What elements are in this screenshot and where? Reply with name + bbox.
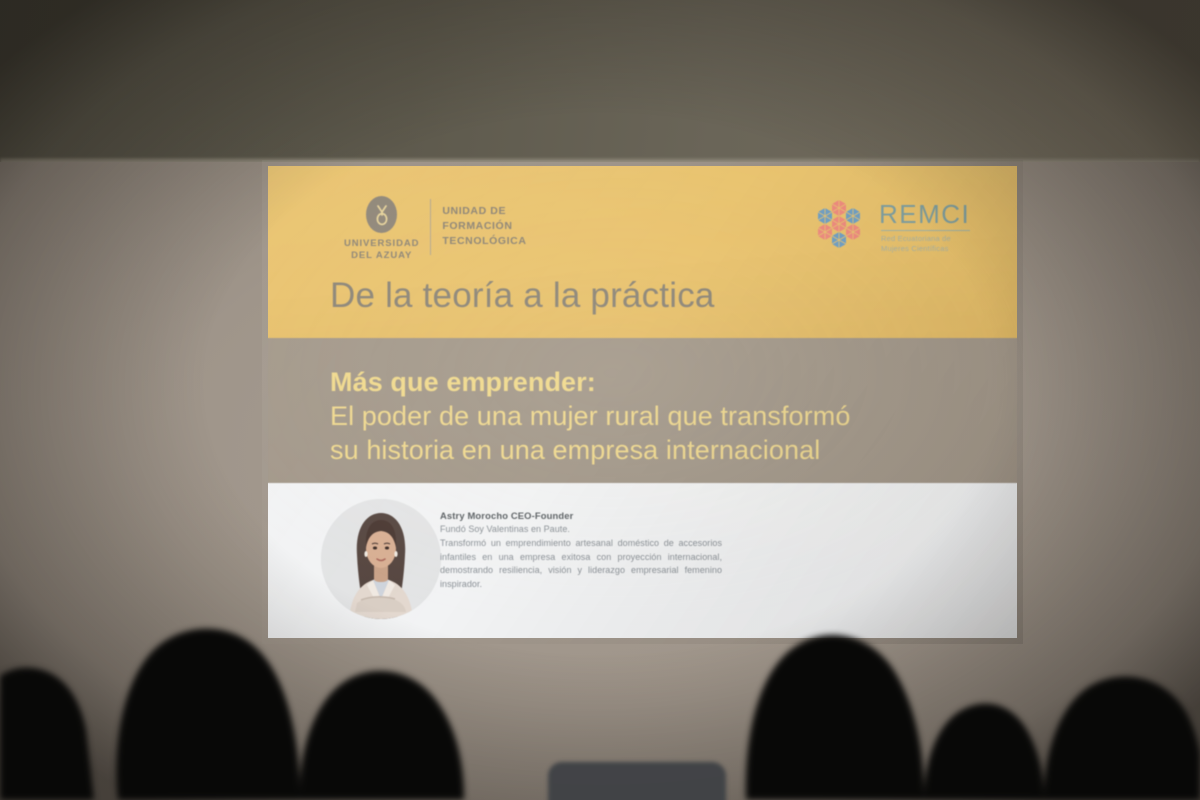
slide-body: UNIVERSIDAD DEL AZUAY UNIDAD DE FORMACIÓ…	[268, 166, 1017, 638]
headline-line-1: El poder de una mujer rural que transfor…	[330, 399, 970, 433]
speaker-bio: Astry Morocho CEO-Founder Fundó Soy Vale…	[440, 509, 722, 591]
speaker-card: Astry Morocho CEO-Founder Fundó Soy Vale…	[268, 483, 1017, 638]
ceiling	[0, 0, 1200, 163]
slide-headline: Más que emprender: El poder de una mujer…	[330, 365, 970, 467]
speaker-subtitle: Fundó Soy Valentinas en Paute.	[440, 523, 722, 536]
remci-flower-icon	[814, 198, 870, 256]
remci-subtitle: Red Ecuatoriana de Mujeres Científicas	[881, 234, 970, 253]
university-name: UNIVERSIDAD DEL AZUAY	[344, 238, 419, 262]
university-logo-lockup: UNIVERSIDAD DEL AZUAY UNIDAD DE FORMACIÓ…	[344, 196, 527, 262]
speaker-bio-text: Transformó un emprendimiento artesanal d…	[440, 537, 722, 591]
remci-divider	[881, 230, 970, 231]
logo-divider	[430, 199, 431, 255]
speaker-card-inner: Astry Morocho CEO-Founder Fundó Soy Vale…	[268, 483, 1017, 638]
projected-slide: UNIVERSIDAD DEL AZUAY UNIDAD DE FORMACIÓ…	[268, 166, 1017, 638]
slide-header-band: UNIVERSIDAD DEL AZUAY UNIDAD DE FORMACIÓ…	[268, 166, 1017, 338]
slide-band-title: De la teoría a la práctica	[330, 276, 715, 316]
headline-line-2: su historia en una empresa internacional	[330, 433, 970, 467]
university-logo-left: UNIVERSIDAD DEL AZUAY	[344, 196, 419, 262]
uda-crest-icon	[366, 196, 397, 233]
speaker-name: Astry Morocho CEO-Founder	[440, 509, 722, 522]
chair-back	[548, 762, 726, 800]
university-unit-name: UNIDAD DE FORMACIÓN TECNOLÓGICA	[442, 204, 526, 249]
remci-wordmark: REMCI	[879, 201, 970, 227]
remci-logo-lockup: REMCI Red Ecuatoriana de Mujeres Científ…	[814, 198, 970, 256]
speaker-portrait-photo	[321, 499, 441, 619]
projection-room-scene: UNIVERSIDAD DEL AZUAY UNIDAD DE FORMACIÓ…	[0, 0, 1200, 800]
remci-wordmark-block: REMCI Red Ecuatoriana de Mujeres Científ…	[879, 201, 970, 253]
headline-lead: Más que emprender:	[330, 365, 970, 399]
